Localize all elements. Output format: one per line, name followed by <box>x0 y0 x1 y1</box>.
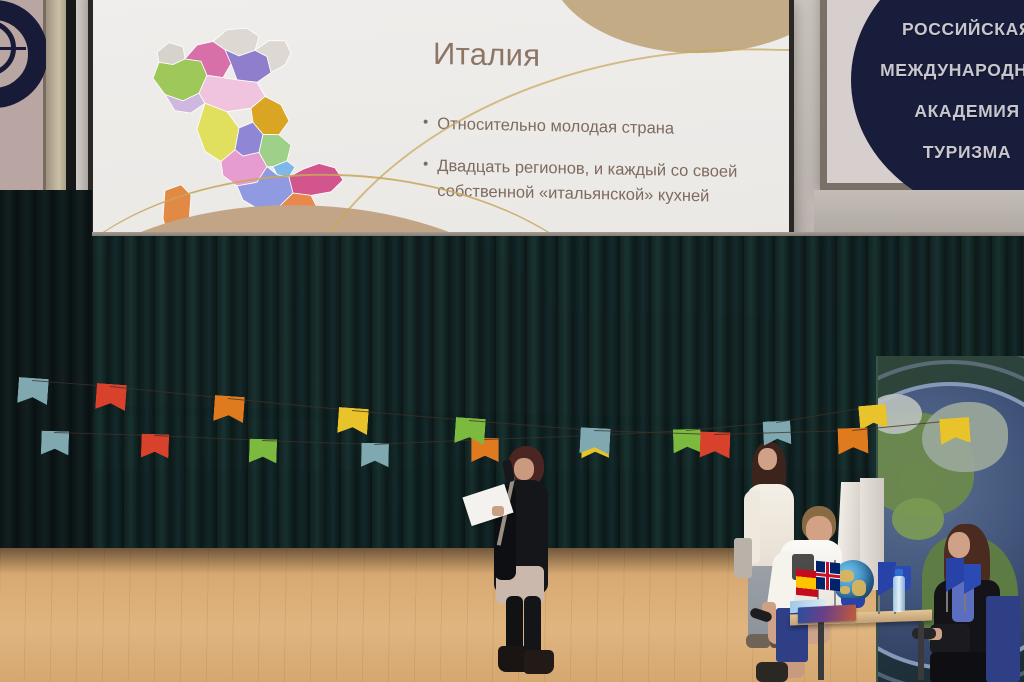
presenter-boot <box>524 650 554 674</box>
slide-title: Италия <box>433 36 540 74</box>
right-banner-text: РОССИЙСКАЯ МЕЖДУНАРОДНАЯ АКАДЕМИЯ ТУРИЗМ… <box>867 9 1024 173</box>
table-leg <box>818 622 824 680</box>
presentation-scene: Città Metropolitane Италия • Относительн… <box>0 0 1024 682</box>
presenter-hand <box>492 506 504 516</box>
panelist-female-lap <box>930 652 988 682</box>
left-banner-spoke-icon <box>0 47 26 50</box>
person-presenter <box>480 446 560 674</box>
right-banner-line-4: ТУРИЗМА <box>867 132 1024 173</box>
right-banner: РОССИЙСКАЯ МЕЖДУНАРОДНАЯ АКАДЕМИЯ ТУРИЗМ… <box>820 0 1024 190</box>
table-leg <box>918 622 924 680</box>
stage-curtain-left <box>0 190 92 570</box>
water-bottle <box>893 576 905 612</box>
chair <box>986 596 1020 682</box>
attendee-head <box>758 448 777 470</box>
presenter-head <box>514 458 534 480</box>
panelist-male-shoe <box>756 662 788 682</box>
bottle-cap <box>895 569 903 576</box>
right-banner-line-3: АКАДЕМИЯ <box>867 91 1024 132</box>
right-banner-line-1: РОССИЙСКАЯ <box>867 9 1024 50</box>
right-banner-line-2: МЕЖДУНАРОДНАЯ <box>867 50 1024 91</box>
microphone <box>912 628 936 639</box>
right-banner-shelf <box>814 190 1024 234</box>
person-seated-panelist-female <box>930 524 1020 682</box>
brochure <box>798 604 856 623</box>
panelist-female-head <box>948 532 970 558</box>
attendee-handbag <box>734 538 752 578</box>
bullet-marker: • <box>423 112 428 137</box>
